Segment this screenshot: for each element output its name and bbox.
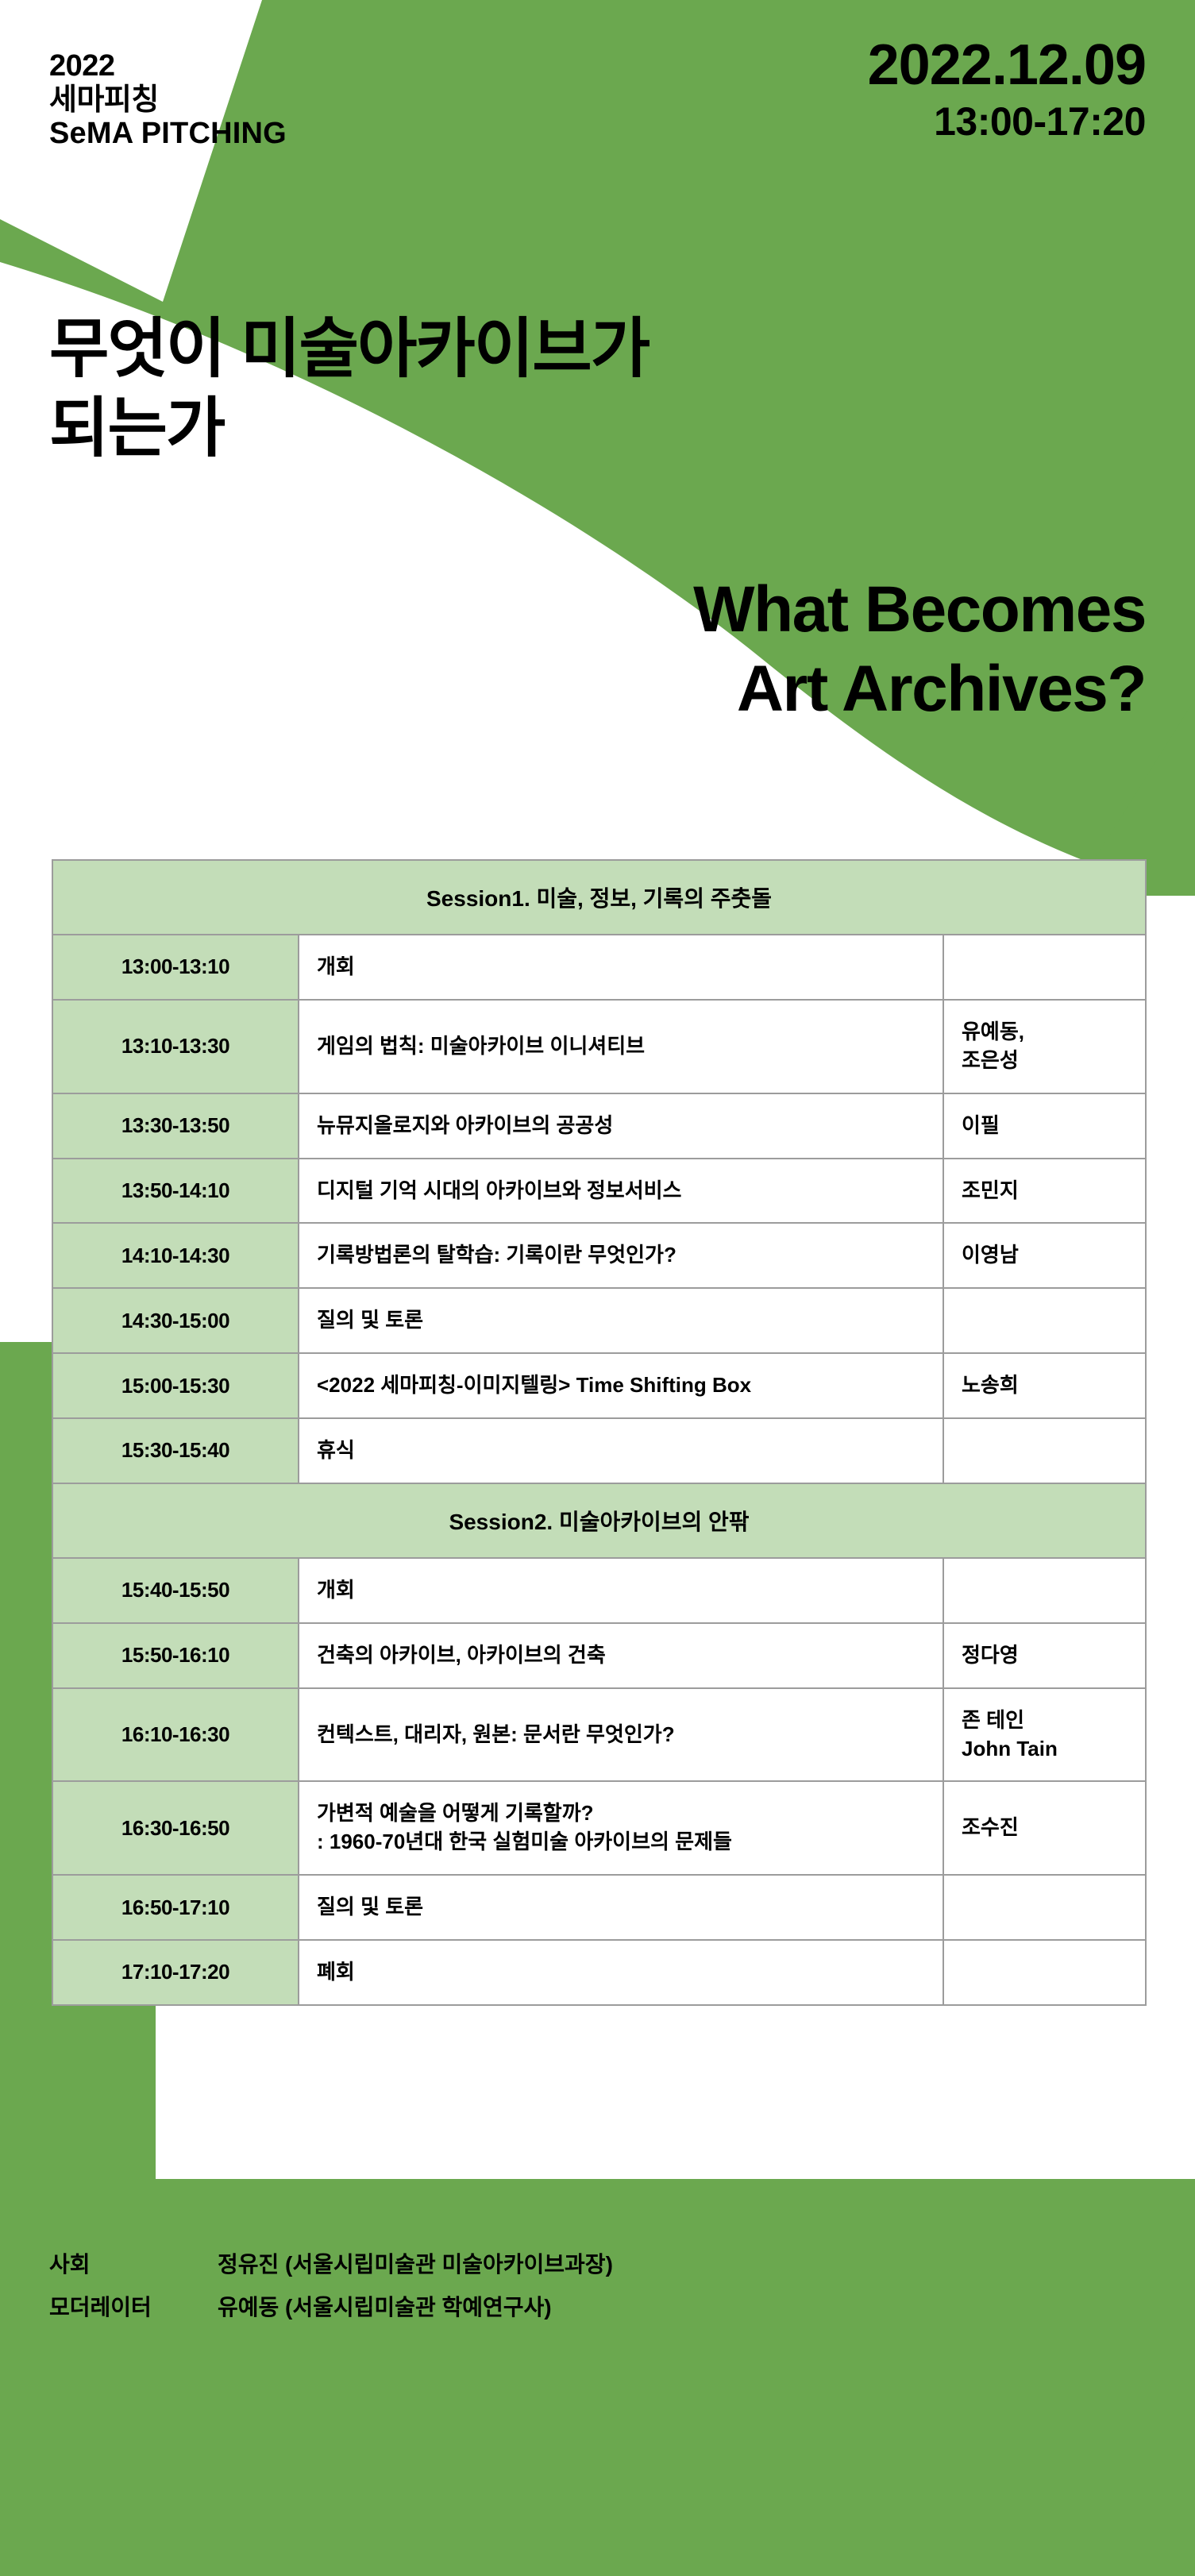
schedule-speaker [943, 1418, 1146, 1483]
schedule-time: 16:50-17:10 [52, 1875, 299, 1940]
schedule-time: 16:10-16:30 [52, 1688, 299, 1782]
schedule-speaker [943, 1288, 1146, 1353]
schedule-row: 15:00-15:30<2022 세마피칭-이미지텔링> Time Shifti… [52, 1353, 1146, 1418]
date-block: 2022.12.09 13:00-17:20 [868, 35, 1146, 143]
schedule-row: 13:10-13:30게임의 법칙: 미술아카이브 이니셔티브유예동, 조은성 [52, 1000, 1146, 1093]
schedule-time: 13:00-13:10 [52, 935, 299, 1000]
credits-block: 사회정유진 (서울시립미술관 미술아카이브과장)모더레이터유예동 (서울시립미술… [49, 2247, 613, 2333]
credit-role: 사회 [49, 2247, 218, 2279]
schedule-speaker: 정다영 [943, 1623, 1146, 1688]
schedule-time: 14:10-14:30 [52, 1223, 299, 1288]
schedule-title: 건축의 아카이브, 아카이브의 건축 [299, 1623, 943, 1688]
schedule-time: 17:10-17:20 [52, 1940, 299, 2005]
schedule-speaker: 노송희 [943, 1353, 1146, 1418]
schedule-title: 폐회 [299, 1940, 943, 2005]
schedule-title: 디지털 기억 시대의 아카이브와 정보서비스 [299, 1159, 943, 1224]
schedule-row: 16:50-17:10질의 및 토론 [52, 1875, 1146, 1940]
session-header-row: Session2. 미술아카이브의 안팎 [52, 1483, 1146, 1558]
session-header-row: Session1. 미술, 정보, 기록의 주춧돌 [52, 860, 1146, 935]
event-date: 2022.12.09 [868, 35, 1146, 97]
schedule-speaker: 조민지 [943, 1159, 1146, 1224]
schedule-time: 13:10-13:30 [52, 1000, 299, 1093]
schedule-row: 15:50-16:10건축의 아카이브, 아카이브의 건축정다영 [52, 1623, 1146, 1688]
credit-role: 모더레이터 [49, 2290, 218, 2322]
schedule-speaker [943, 1940, 1146, 2005]
schedule-speaker: 이필 [943, 1093, 1146, 1159]
title-english: What Becomes Art Archives? [693, 570, 1146, 729]
schedule-row: 15:30-15:40휴식 [52, 1418, 1146, 1483]
schedule-time: 15:30-15:40 [52, 1418, 299, 1483]
schedule-title: 개회 [299, 935, 943, 1000]
schedule-time: 15:50-16:10 [52, 1623, 299, 1688]
schedule-row: 13:30-13:50뉴뮤지올로지와 아카이브의 공공성이필 [52, 1093, 1146, 1159]
schedule-title: 뉴뮤지올로지와 아카이브의 공공성 [299, 1093, 943, 1159]
green-footer-area [0, 2179, 1195, 2576]
session-heading: Session1. 미술, 정보, 기록의 주춧돌 [52, 860, 1146, 935]
credit-row: 사회정유진 (서울시립미술관 미술아카이브과장) [49, 2247, 613, 2279]
schedule-time: 14:30-15:00 [52, 1288, 299, 1353]
schedule-row: 14:10-14:30기록방법론의 탈학습: 기록이란 무엇인가?이영남 [52, 1223, 1146, 1288]
credit-row: 모더레이터유예동 (서울시립미술관 학예연구사) [49, 2290, 613, 2322]
schedule-body: Session1. 미술, 정보, 기록의 주춧돌13:00-13:10개회13… [52, 860, 1146, 2005]
schedule-time: 13:50-14:10 [52, 1159, 299, 1224]
schedule-table: Session1. 미술, 정보, 기록의 주춧돌13:00-13:10개회13… [52, 859, 1147, 2006]
schedule-speaker [943, 1558, 1146, 1623]
schedule-title: 질의 및 토론 [299, 1875, 943, 1940]
schedule-time: 15:00-15:30 [52, 1353, 299, 1418]
schedule-title: 기록방법론의 탈학습: 기록이란 무엇인가? [299, 1223, 943, 1288]
schedule-row: 13:50-14:10디지털 기억 시대의 아카이브와 정보서비스조민지 [52, 1159, 1146, 1224]
logo-name-en: SeMA PITCHING [49, 117, 287, 151]
schedule-speaker: 조수진 [943, 1781, 1146, 1875]
schedule-row: 16:10-16:30컨텍스트, 대리자, 원본: 문서란 무엇인가?존 테인 … [52, 1688, 1146, 1782]
logo-name-ko: 세마피칭 [49, 83, 287, 118]
event-time: 13:00-17:20 [868, 100, 1146, 143]
schedule-speaker: 존 테인 John Tain [943, 1688, 1146, 1782]
credit-name: 정유진 (서울시립미술관 미술아카이브과장) [218, 2247, 613, 2279]
schedule-row: 15:40-15:50개회 [52, 1558, 1146, 1623]
event-poster: 2022 세마피칭 SeMA PITCHING 2022.12.09 13:00… [0, 0, 1195, 2576]
schedule-title: 컨텍스트, 대리자, 원본: 문서란 무엇인가? [299, 1688, 943, 1782]
schedule-title: 게임의 법칙: 미술아카이브 이니셔티브 [299, 1000, 943, 1093]
schedule-row: 16:30-16:50가변적 예술을 어떻게 기록할까? : 1960-70년대… [52, 1781, 1146, 1875]
schedule-time: 16:30-16:50 [52, 1781, 299, 1875]
schedule-time: 15:40-15:50 [52, 1558, 299, 1623]
schedule-speaker [943, 935, 1146, 1000]
session-heading: Session2. 미술아카이브의 안팎 [52, 1483, 1146, 1558]
credit-name: 유예동 (서울시립미술관 학예연구사) [218, 2290, 552, 2322]
schedule-speaker [943, 1875, 1146, 1940]
schedule-row: 13:00-13:10개회 [52, 935, 1146, 1000]
schedule-row: 14:30-15:00질의 및 토론 [52, 1288, 1146, 1353]
schedule-speaker: 유예동, 조은성 [943, 1000, 1146, 1093]
schedule-title: 질의 및 토론 [299, 1288, 943, 1353]
schedule-time: 13:30-13:50 [52, 1093, 299, 1159]
title-korean: 무엇이 미술아카이브가 되는가 [49, 310, 649, 469]
schedule-title: <2022 세마피칭-이미지텔링> Time Shifting Box [299, 1353, 943, 1418]
logo-block: 2022 세마피칭 SeMA PITCHING [49, 49, 287, 151]
schedule-title: 휴식 [299, 1418, 943, 1483]
logo-year: 2022 [49, 49, 287, 83]
schedule-speaker: 이영남 [943, 1223, 1146, 1288]
schedule-title: 가변적 예술을 어떻게 기록할까? : 1960-70년대 한국 실험미술 아카… [299, 1781, 943, 1875]
schedule-title: 개회 [299, 1558, 943, 1623]
schedule-row: 17:10-17:20폐회 [52, 1940, 1146, 2005]
